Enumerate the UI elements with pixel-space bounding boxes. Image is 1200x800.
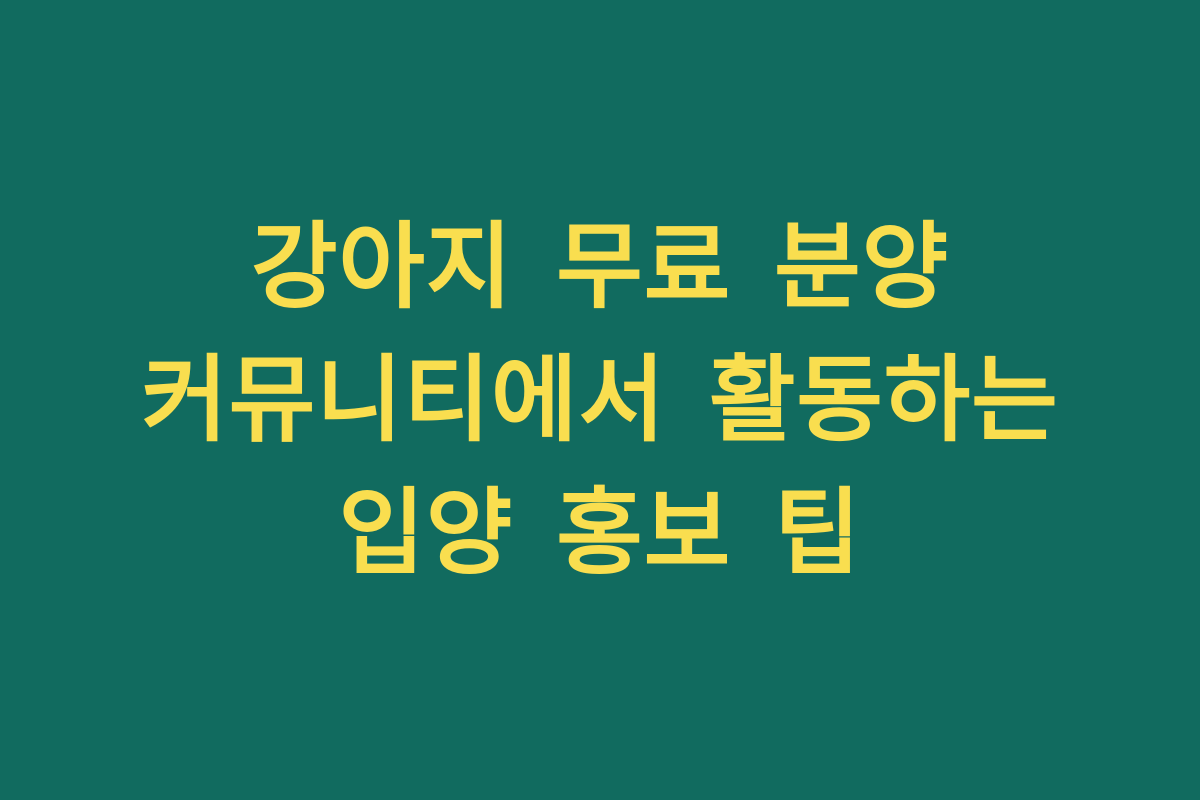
banner-canvas: 강아지 무료 분양 커뮤니티에서 활동하는 입양 홍보 팁 [0, 0, 1200, 800]
page-title: 강아지 무료 분양 커뮤니티에서 활동하는 입양 홍보 팁 [85, 201, 1115, 600]
